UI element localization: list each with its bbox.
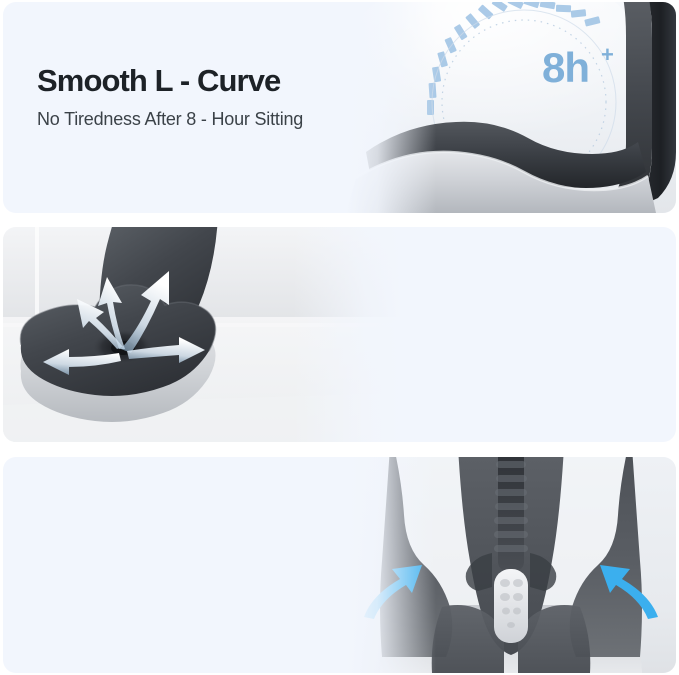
feature-panel-fits-the-spinal-curve: Fits the Spinal Curve comfortable leg pr… [3,457,676,673]
feature-panel-enlarged-hollow-design: Enlarged Hollow Design Painful Areas Avo… [3,227,676,442]
feature-panel-smooth-l-curve: 8h + Smooth L - Curve No Tiredness After… [3,2,676,213]
panel-1-text-block: Smooth L - Curve No Tiredness After 8 - … [37,64,303,130]
seat-cushion-side-view-image: 8h + [346,2,676,213]
panel-1-subtitle: No Tiredness After 8 - Hour Sitting [37,109,303,130]
infographic-board: 8h + Smooth L - Curve No Tiredness After… [0,0,679,675]
svg-text:8h: 8h [542,44,589,91]
svg-text:+: + [601,42,614,67]
hollow-cushion-top-view-image [3,227,403,442]
spine-xray-cushion-image [346,457,676,673]
panel-1-heading: Smooth L - Curve [37,64,303,99]
